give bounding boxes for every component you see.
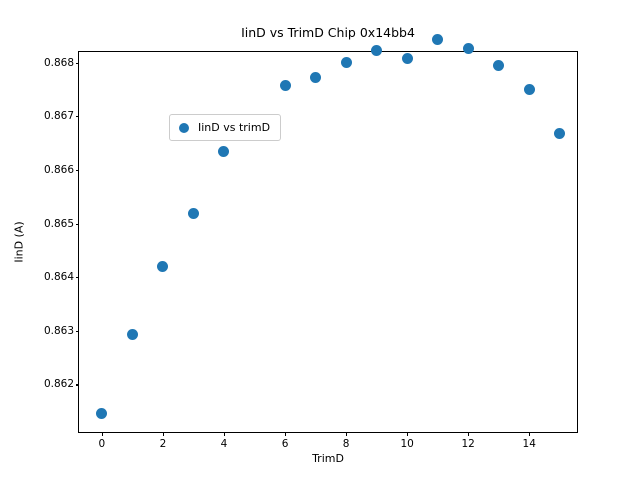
scatter-point	[188, 208, 199, 219]
y-tick-mark	[76, 224, 80, 225]
scatter-point	[493, 60, 504, 71]
x-tick-label: 8	[343, 438, 350, 450]
x-tick-mark	[468, 432, 469, 436]
plot-area: 0.8620.8630.8640.8650.8660.8670.868 0246…	[78, 51, 578, 433]
x-axis-label: TrimD	[78, 452, 578, 465]
chart-legend: IinD vs trimD	[169, 114, 281, 141]
scatter-point	[554, 128, 565, 139]
scatter-point	[432, 34, 443, 45]
y-axis-label: IinD (A)	[13, 221, 26, 262]
y-tick-label: 0.864	[44, 271, 74, 283]
y-tick-label: 0.863	[44, 325, 74, 337]
y-tick-mark	[76, 331, 80, 332]
y-tick-label: 0.868	[44, 57, 74, 69]
x-tick-label: 0	[99, 438, 106, 450]
y-tick-mark	[76, 277, 80, 278]
y-tick-mark	[76, 170, 80, 171]
x-tick-mark	[529, 432, 530, 436]
x-tick-label: 6	[282, 438, 289, 450]
scatter-point	[341, 57, 352, 68]
scatter-point	[280, 80, 291, 91]
scatter-point	[218, 146, 229, 157]
scatter-point	[96, 408, 107, 419]
x-tick-mark	[224, 432, 225, 436]
legend-label: IinD vs trimD	[198, 121, 270, 134]
x-tick-label: 14	[523, 438, 536, 450]
scatter-point	[157, 261, 168, 272]
x-tick-label: 2	[160, 438, 167, 450]
scatter-point	[524, 84, 535, 95]
x-tick-mark	[346, 432, 347, 436]
x-tick-mark	[285, 432, 286, 436]
y-tick-label: 0.867	[44, 110, 74, 122]
chart-figure: IinD vs TrimD Chip 0x14bb4 0.8620.8630.8…	[0, 0, 640, 480]
scatter-point	[310, 72, 321, 83]
scatter-point	[463, 43, 474, 54]
chart-title: IinD vs TrimD Chip 0x14bb4	[78, 25, 578, 40]
x-tick-label: 12	[462, 438, 475, 450]
x-tick-label: 10	[400, 438, 413, 450]
x-tick-label: 4	[221, 438, 228, 450]
x-tick-mark	[407, 432, 408, 436]
x-tick-mark	[163, 432, 164, 436]
y-tick-mark	[76, 116, 80, 117]
y-tick-label: 0.866	[44, 164, 74, 176]
scatter-point	[371, 45, 382, 56]
y-tick-label: 0.862	[44, 378, 74, 390]
scatter-point	[127, 329, 138, 340]
legend-marker-icon	[179, 123, 189, 133]
y-tick-label: 0.865	[44, 218, 74, 230]
scatter-point	[402, 53, 413, 64]
x-tick-mark	[102, 432, 103, 436]
y-tick-mark	[76, 384, 80, 385]
y-tick-mark	[76, 63, 80, 64]
